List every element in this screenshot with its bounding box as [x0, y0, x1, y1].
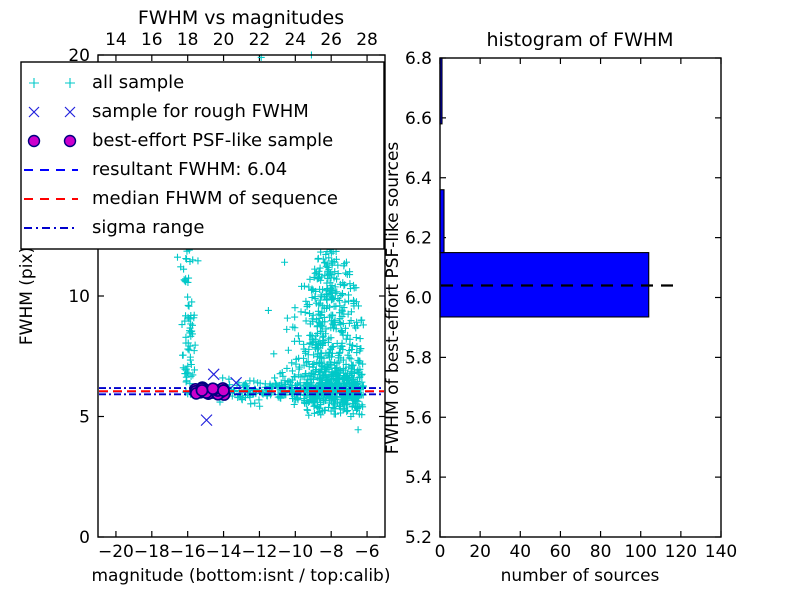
data-point-all-sample: [302, 298, 309, 305]
hist-x-tick-label: 60: [550, 542, 572, 562]
x-tick-label-top: 22: [249, 30, 271, 50]
data-point-all-sample: [270, 350, 277, 357]
data-point-all-sample: [314, 256, 321, 263]
data-point-all-sample: [284, 315, 291, 322]
x-tick-label-top: 14: [105, 30, 127, 50]
x-tick-label-top: 20: [213, 30, 235, 50]
hist-y-tick-label: 5.4: [405, 468, 432, 488]
right-panel-xlabel: number of sources: [501, 566, 660, 586]
data-point-all-sample: [295, 332, 302, 339]
data-point-all-sample: [225, 376, 232, 383]
hist-y-tick-label: 5.8: [405, 348, 432, 368]
data-point-all-sample: [353, 349, 360, 356]
x-tick-label-bottom: −6: [355, 542, 380, 562]
data-point-all-sample: [194, 257, 201, 264]
hist-x-tick-label: 80: [590, 542, 612, 562]
data-point-all-sample: [183, 378, 190, 385]
x-tick-label-bottom: −12: [241, 542, 277, 562]
hist-x-tick-label: 100: [624, 542, 656, 562]
legend-label: sample for rough FWHM: [92, 101, 309, 122]
hist-y-tick-label: 5.6: [405, 408, 432, 428]
histogram-bars: [440, 58, 649, 317]
data-point-all-sample: [348, 355, 355, 362]
legend-label: sigma range: [92, 217, 204, 238]
hist-y-tick-label: 5.2: [405, 528, 432, 548]
legend-marker-dot-icon: [65, 136, 76, 147]
data-point-all-sample: [186, 347, 193, 354]
hist-y-tick-label: 6.0: [405, 289, 432, 309]
hist-x-tick-label: 0: [435, 542, 446, 562]
data-point-all-sample: [283, 326, 290, 333]
data-point-all-sample: [185, 302, 192, 309]
hist-x-tick-label: 40: [509, 542, 531, 562]
data-point-all-sample: [191, 347, 198, 354]
data-point-all-sample: [281, 259, 288, 266]
data-point-rough-sample: [208, 369, 219, 380]
hist-x-tick-label: 140: [705, 542, 737, 562]
hist-x-tick-label: 20: [469, 542, 491, 562]
data-point-all-sample: [182, 255, 189, 262]
x-tick-label-top: 28: [356, 30, 378, 50]
hist-y-tick-label: 6.8: [405, 49, 432, 69]
data-point-all-sample: [188, 361, 195, 368]
data-point-all-sample: [304, 407, 311, 414]
data-point-psf-sample: [196, 385, 207, 396]
y-tick-label: 10: [68, 287, 90, 307]
x-tick-label-top: 18: [177, 30, 199, 50]
y-tick-label: 0: [79, 528, 90, 548]
right-panel-x-tick-labels: 020406080100120140: [435, 542, 738, 562]
data-point-all-sample: [317, 265, 324, 272]
matplotlib-figure: FWHM vs magnitudes 1416182022242628 −20−…: [0, 0, 800, 600]
right-panel-y-tick-labels: 5.25.45.65.86.06.26.46.66.8: [405, 49, 432, 548]
data-point-all-sample: [192, 342, 199, 349]
hist-y-tick-label: 6.6: [405, 109, 432, 129]
x-tick-label-bottom: −8: [319, 542, 344, 562]
legend-label: all sample: [92, 72, 184, 93]
left-panel-xlabel: magnitude (bottom:isnt / top:calib): [92, 566, 391, 586]
data-point-all-sample: [265, 307, 272, 314]
data-point-all-sample: [346, 280, 353, 287]
hist-y-tick-label: 6.2: [405, 229, 432, 249]
left-panel-top-tick-labels: 1416182022242628: [105, 30, 378, 50]
x-tick-label-bottom: −10: [277, 542, 313, 562]
x-tick-label-top: 16: [141, 30, 163, 50]
x-tick-label-bottom: −16: [170, 542, 206, 562]
legend-label: resultant FWHM: 6.04: [92, 159, 287, 180]
data-point-all-sample: [342, 270, 349, 277]
data-point-psf-sample: [207, 383, 218, 394]
data-point-all-sample: [310, 312, 317, 319]
data-point-all-sample: [305, 412, 312, 419]
data-point-all-sample: [353, 334, 360, 341]
legend-label: best-effort PSF-like sample: [92, 130, 333, 151]
data-point-psf-sample: [218, 385, 229, 396]
data-point-all-sample: [345, 291, 352, 298]
data-point-all-sample: [291, 314, 298, 321]
data-point-rough-sample: [201, 415, 212, 426]
data-point-all-sample: [271, 374, 278, 381]
y-tick-label: 5: [79, 408, 90, 428]
data-point-all-sample: [174, 254, 181, 261]
scatter-psf-sample: [190, 382, 230, 400]
data-point-all-sample: [191, 366, 198, 373]
data-point-all-sample: [180, 352, 187, 359]
right-panel-histogram: histogram of FWHM 020406080100120140 5.2…: [383, 29, 737, 586]
data-point-all-sample: [298, 308, 305, 315]
data-point-all-sample: [184, 294, 191, 301]
data-point-all-sample: [251, 400, 258, 407]
data-point-all-sample: [247, 400, 254, 407]
legend-label: median FHWM of sequence: [92, 188, 338, 209]
data-point-all-sample: [319, 286, 326, 293]
right-panel-title: histogram of FWHM: [486, 29, 673, 51]
x-tick-label-top: 24: [284, 30, 306, 50]
data-point-all-sample: [286, 378, 293, 385]
x-tick-label-bottom: −18: [134, 542, 170, 562]
data-point-all-sample: [311, 410, 318, 417]
left-panel-ylabel: FWHM (pix): [17, 247, 37, 345]
legend-marker-dot-icon: [29, 136, 40, 147]
data-point-all-sample: [291, 373, 298, 380]
data-point-all-sample: [288, 359, 295, 366]
data-point-all-sample: [296, 338, 303, 345]
data-point-all-sample: [355, 426, 362, 433]
left-panel-title: FWHM vs magnitudes: [138, 7, 344, 29]
data-point-all-sample: [291, 401, 298, 408]
data-point-all-sample: [357, 335, 364, 342]
data-point-all-sample: [256, 396, 263, 403]
x-tick-label-bottom: −14: [206, 542, 242, 562]
data-point-all-sample: [344, 407, 351, 414]
hist-y-tick-label: 6.4: [405, 169, 432, 189]
data-point-all-sample: [306, 276, 313, 283]
data-point-all-sample: [341, 299, 348, 306]
left-panel-bottom-tick-labels: −20−18−16−14−12−10−8−6: [98, 542, 380, 562]
legend: all samplesample for rough FWHMbest-effo…: [21, 62, 384, 249]
data-point-all-sample: [285, 347, 292, 354]
x-tick-label-top: 26: [320, 30, 342, 50]
x-tick-label-bottom: −20: [98, 542, 134, 562]
data-point-all-sample: [291, 304, 298, 311]
right-panel-ylabel: FWHM of best-effort PSF-like sources: [383, 142, 403, 455]
data-point-all-sample: [317, 292, 324, 299]
figure-canvas: FWHM vs magnitudes 1416182022242628 −20−…: [0, 0, 800, 600]
data-point-all-sample: [302, 309, 309, 316]
data-point-all-sample: [219, 374, 226, 381]
hist-x-tick-label: 120: [665, 542, 697, 562]
data-point-all-sample: [256, 403, 263, 410]
